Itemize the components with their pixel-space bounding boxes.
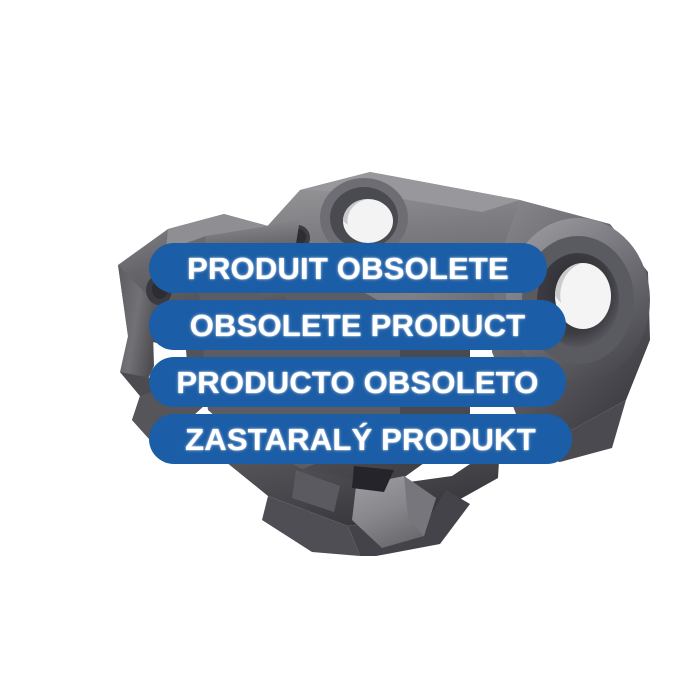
obsolete-banner-cs: ZASTARALÝ PRODUKT bbox=[149, 414, 572, 464]
obsolete-banner-fr: PRODUIT OBSOLETE bbox=[149, 243, 547, 293]
obsolete-banner-label-es: PRODUCTO OBSOLETO bbox=[176, 367, 538, 398]
obsolete-banner-label-cs: ZASTARALÝ PRODUKT bbox=[185, 424, 536, 455]
obsolete-banner-label-fr: PRODUIT OBSOLETE bbox=[187, 253, 509, 284]
obsolete-product-overlay: PRODUIT OBSOLETE OBSOLETE PRODUCT PRODUC… bbox=[0, 243, 700, 471]
obsolete-banner-es: PRODUCTO OBSOLETO bbox=[149, 357, 566, 407]
obsolete-banner-en: OBSOLETE PRODUCT bbox=[149, 300, 566, 350]
obsolete-banner-label-en: OBSOLETE PRODUCT bbox=[190, 310, 526, 341]
product-image-canvas: PRODUIT OBSOLETE OBSOLETE PRODUCT PRODUC… bbox=[0, 0, 700, 700]
